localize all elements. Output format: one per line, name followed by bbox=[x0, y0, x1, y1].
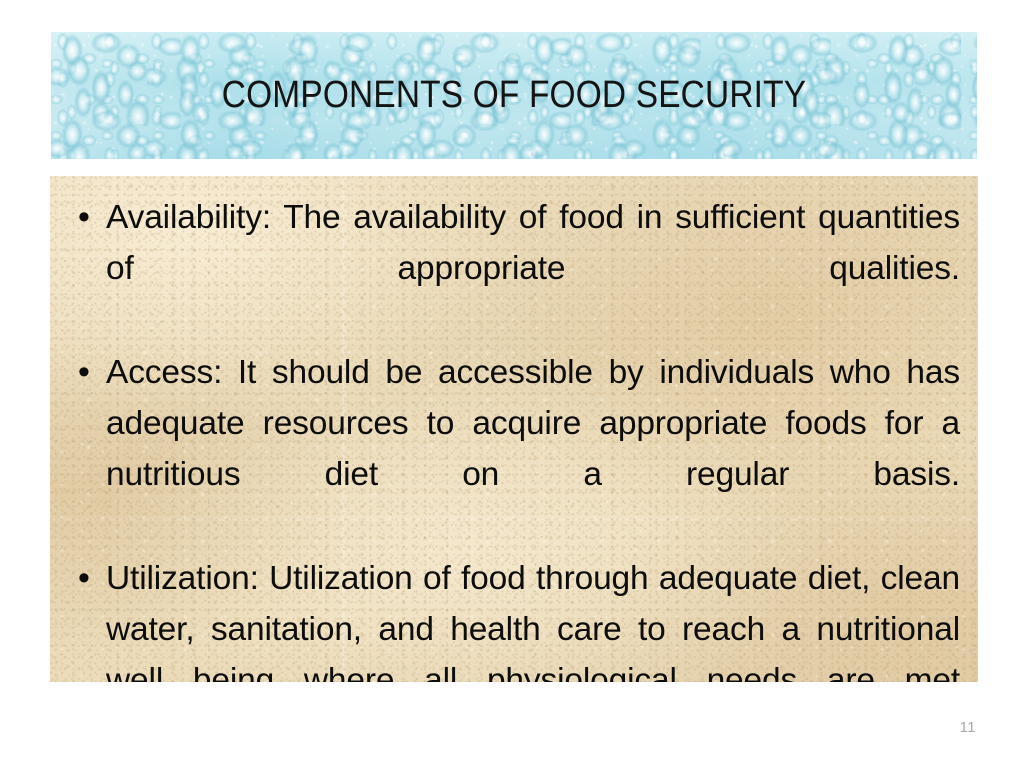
content-block: • Availability: The availability of food… bbox=[50, 176, 978, 682]
slide-title: COMPONENTS OF FOOD SECURITY bbox=[107, 32, 922, 159]
slide: COMPONENTS OF FOOD SECURITY • Availabili… bbox=[0, 0, 1024, 768]
bullet-point-icon: • bbox=[62, 347, 106, 398]
bullet-text-availability: Availability: The availability of food i… bbox=[106, 192, 960, 345]
list-item: • Availability: The availability of food… bbox=[62, 192, 960, 345]
list-item: • Utilization: Utilization of food throu… bbox=[62, 553, 960, 682]
bullet-point-icon: • bbox=[62, 553, 106, 604]
bullet-text-access: Access: It should be accessible by indiv… bbox=[106, 347, 960, 551]
bullet-list: • Availability: The availability of food… bbox=[50, 176, 978, 682]
list-item: • Access: It should be accessible by ind… bbox=[62, 347, 960, 551]
bullet-point-icon: • bbox=[62, 192, 106, 243]
title-banner: COMPONENTS OF FOOD SECURITY bbox=[51, 32, 977, 159]
bullet-text-utilization: Utilization: Utilization of food through… bbox=[106, 553, 960, 682]
page-number: 11 bbox=[960, 719, 976, 736]
